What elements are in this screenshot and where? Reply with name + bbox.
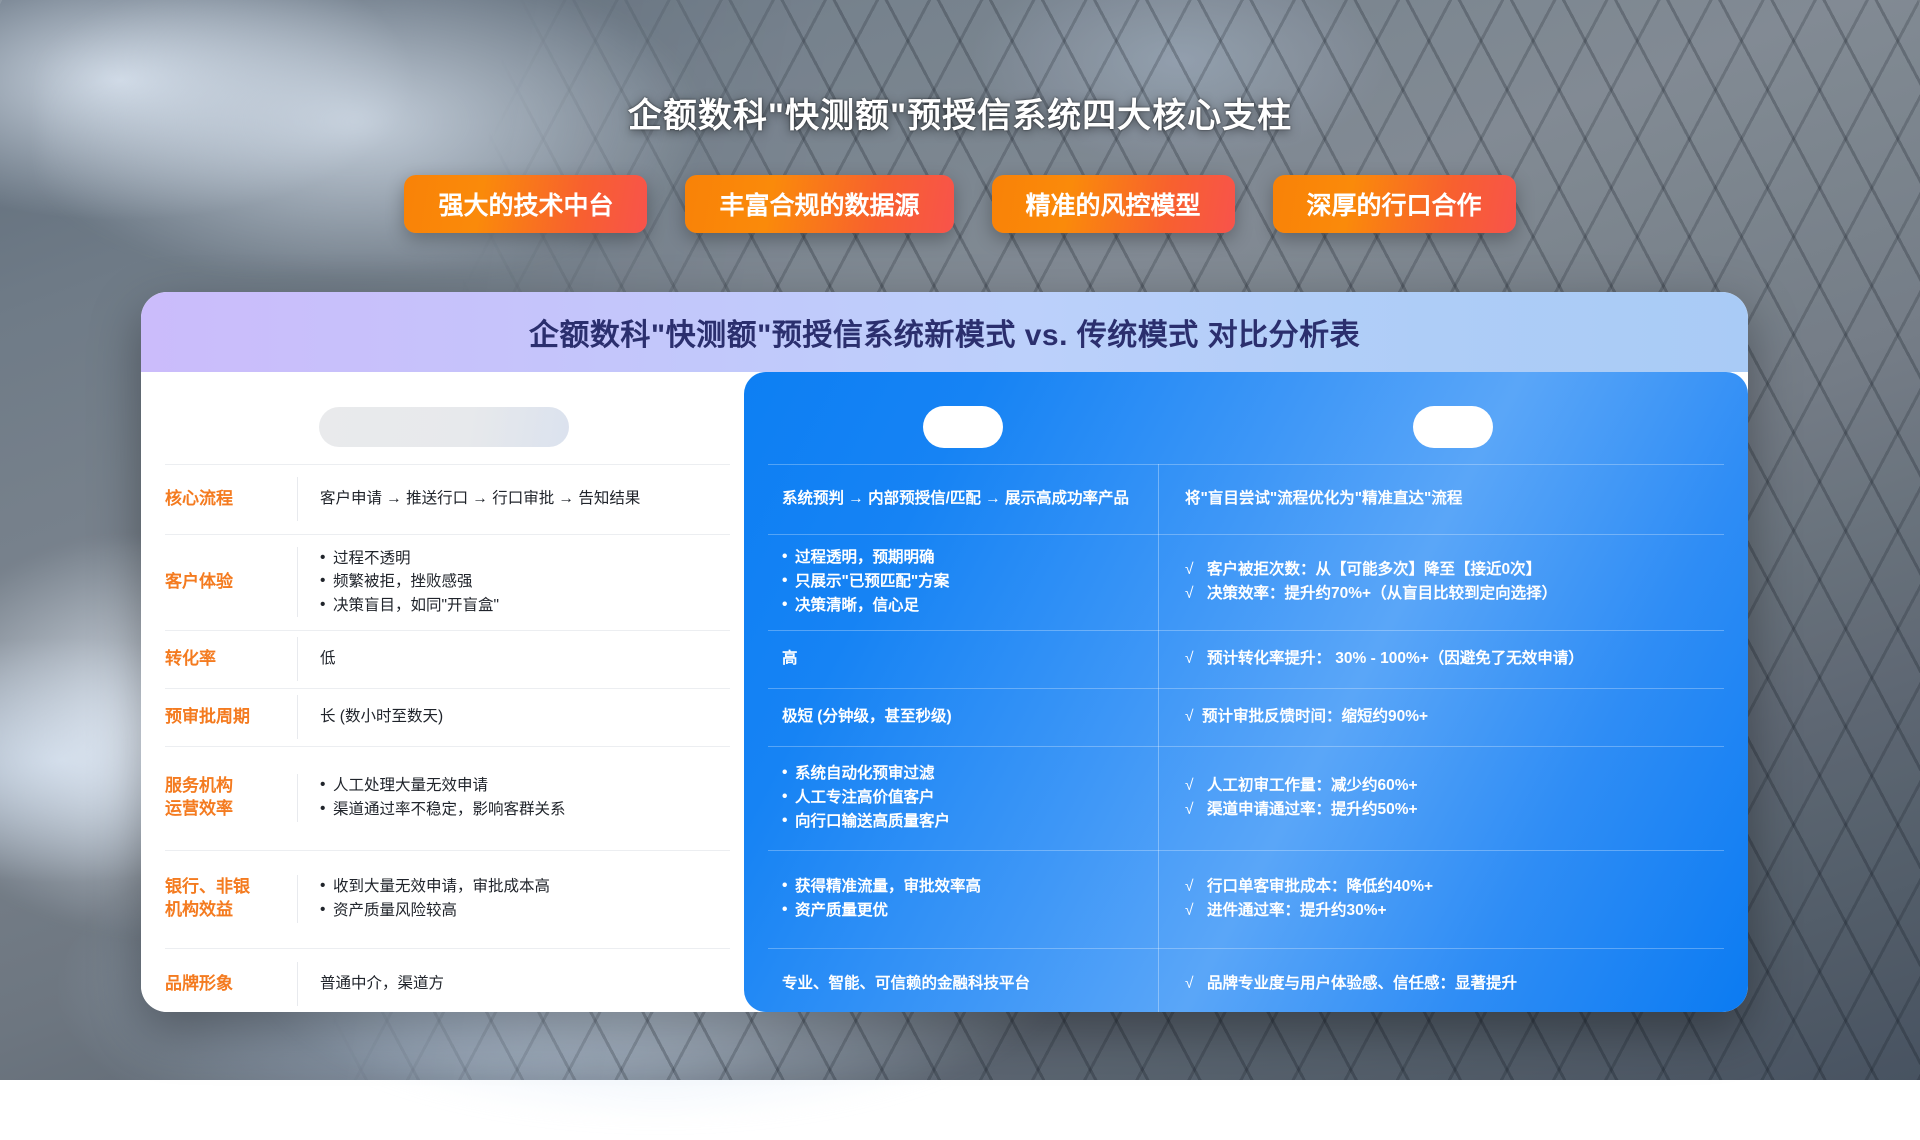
new-mode-line: 专业、智能、可信赖的金融科技平台 bbox=[782, 972, 1144, 996]
traditional-line: 低 bbox=[320, 647, 722, 671]
traditional-line: 渠道通过率不稳定，影响客群关系 bbox=[320, 798, 722, 822]
row-advantage-cell: 预计审批反馈时间：缩短约90%+ bbox=[1158, 688, 1732, 746]
row-advantage-cell: 品牌专业度与用户体验感、信任感：显著提升 bbox=[1158, 948, 1732, 1012]
row-advantage-cell: 将"盲目尝试"流程优化为"精准直达"流程 bbox=[1158, 464, 1732, 534]
pillar-pill-2[interactable]: 丰富合规的数据源 bbox=[685, 175, 953, 233]
advantage-line: 预计审批反馈时间：缩短约90%+ bbox=[1185, 705, 1722, 729]
row-new-mode-cell: 系统自动化预审过滤人工专注高价值客户向行口输送高质量客户 bbox=[760, 746, 1158, 850]
row-dimension-label: 银行、非银 机构效益 bbox=[165, 876, 297, 922]
advantage-line: 将"盲目尝试"流程优化为"精准直达"流程 bbox=[1185, 487, 1722, 511]
new-mode-line: 系统自动化预审过滤 bbox=[782, 762, 1144, 786]
row-advantage-cell: 人工初审工作量：减少约60%+渠道申请通过率：提升约50%+ bbox=[1158, 746, 1732, 850]
advantage-line: 客户被拒次数：从【可能多次】降至【接近0次】 bbox=[1185, 558, 1722, 582]
table-row: 系统预判 → 内部预授信/匹配 → 展示高成功率产品将"盲目尝试"流程优化为"精… bbox=[744, 464, 1748, 534]
row-dimension-label: 预审批周期 bbox=[165, 706, 297, 729]
new-mode-line: 极短 (分钟级，甚至秒级) bbox=[782, 705, 1144, 729]
row-dimension-label: 转化率 bbox=[165, 648, 297, 671]
comparison-card-body: 核心流程客户申请 → 推送行口 → 行口审批 → 告知结果客户体验过程不透明频繁… bbox=[141, 372, 1748, 1012]
row-new-mode-cell: 专业、智能、可信赖的金融科技平台 bbox=[760, 948, 1158, 1012]
row-advantage-cell: 客户被拒次数：从【可能多次】降至【接近0次】决策效率：提升约70%+（从盲目比较… bbox=[1158, 534, 1732, 630]
advantage-line: 渠道申请通过率：提升约50%+ bbox=[1185, 798, 1722, 822]
blue-header-row bbox=[744, 390, 1748, 464]
row-dimension-label: 客户体验 bbox=[165, 571, 297, 594]
table-row: 服务机构 运营效率人工处理大量无效申请渠道通过率不稳定，影响客群关系 bbox=[141, 746, 744, 850]
traditional-line: 客户申请 → 推送行口 → 行口审批 → 告知结果 bbox=[320, 487, 722, 511]
table-row: 高预计转化率提升： 30% - 100%+（因避免了无效申请） bbox=[744, 630, 1748, 688]
traditional-line: 长 (数小时至数天) bbox=[320, 705, 722, 729]
page-headline: 企额数科"快测额"预授信系统四大核心支柱 bbox=[0, 88, 1920, 137]
new-mode-line: 向行口输送高质量客户 bbox=[782, 810, 1144, 834]
new-mode-line: 过程透明，预期明确 bbox=[782, 546, 1144, 570]
row-new-mode-cell: 极短 (分钟级，甚至秒级) bbox=[760, 688, 1158, 746]
traditional-table: 核心流程客户申请 → 推送行口 → 行口审批 → 告知结果客户体验过程不透明频繁… bbox=[141, 372, 744, 1012]
traditional-line: 资产质量风险较高 bbox=[320, 899, 722, 923]
new-mode-line: 决策清晰，信心足 bbox=[782, 594, 1144, 618]
row-traditional-cell: 长 (数小时至数天) bbox=[297, 695, 722, 739]
advantage-line: 人工初审工作量：减少约60%+ bbox=[1185, 774, 1722, 798]
row-traditional-cell: 人工处理大量无效申请渠道通过率不稳定，影响客群关系 bbox=[297, 774, 722, 821]
advantage-line: 行口单客审批成本：降低约40%+ bbox=[1185, 875, 1722, 899]
table-row: 银行、非银 机构效益收到大量无效申请，审批成本高资产质量风险较高 bbox=[141, 850, 744, 948]
table-row: 过程透明，预期明确只展示"已预匹配"方案决策清晰，信心足客户被拒次数：从【可能多… bbox=[744, 534, 1748, 630]
row-dimension-label: 品牌形象 bbox=[165, 973, 297, 996]
new-mode-line: 只展示"已预匹配"方案 bbox=[782, 570, 1144, 594]
new-mode-line: 人工专注高价值客户 bbox=[782, 786, 1144, 810]
pillar-pill-4[interactable]: 深厚的行口合作 bbox=[1273, 175, 1516, 233]
new-mode-line: 获得精准流量，审批效率高 bbox=[782, 875, 1144, 899]
row-new-mode-cell: 过程透明，预期明确只展示"已预匹配"方案决策清晰，信心足 bbox=[760, 534, 1158, 630]
row-advantage-cell: 预计转化率提升： 30% - 100%+（因避免了无效申请） bbox=[1158, 630, 1732, 688]
comparison-card-header: 企额数科"快测额"预授信系统新模式 vs. 传统模式 对比分析表 bbox=[141, 292, 1748, 372]
traditional-line: 普通中介，渠道方 bbox=[320, 972, 722, 996]
advantage-line: 决策效率：提升约70%+（从盲目比较到定向选择） bbox=[1185, 582, 1722, 606]
comparison-card: 企额数科"快测额"预授信系统新模式 vs. 传统模式 对比分析表 核心流程客户申… bbox=[141, 292, 1748, 1012]
table-row: 转化率低 bbox=[141, 630, 744, 688]
column-header-traditional bbox=[319, 407, 569, 447]
pillar-pill-row: 强大的技术中台丰富合规的数据源精准的风控模型深厚的行口合作 bbox=[0, 175, 1920, 233]
table-row: 品牌形象普通中介，渠道方 bbox=[141, 948, 744, 1012]
row-new-mode-cell: 高 bbox=[760, 630, 1158, 688]
table-header-row bbox=[141, 390, 744, 464]
traditional-line: 决策盲目，如同"开盲盒" bbox=[320, 594, 722, 618]
traditional-line: 人工处理大量无效申请 bbox=[320, 774, 722, 798]
new-mode-line: 资产质量更优 bbox=[782, 899, 1144, 923]
row-new-mode-cell: 获得精准流量，审批效率高资产质量更优 bbox=[760, 850, 1158, 948]
pillar-pill-3[interactable]: 精准的风控模型 bbox=[992, 175, 1235, 233]
row-new-mode-cell: 系统预判 → 内部预授信/匹配 → 展示高成功率产品 bbox=[760, 464, 1158, 534]
table-row: 获得精准流量，审批效率高资产质量更优行口单客审批成本：降低约40%+进件通过率：… bbox=[744, 850, 1748, 948]
column-header-new-mode bbox=[923, 406, 1003, 448]
row-dimension-label: 服务机构 运营效率 bbox=[165, 775, 297, 821]
row-traditional-cell: 低 bbox=[297, 637, 722, 681]
table-row: 系统自动化预审过滤人工专注高价值客户向行口输送高质量客户人工初审工作量：减少约6… bbox=[744, 746, 1748, 850]
row-dimension-label: 核心流程 bbox=[165, 488, 297, 511]
row-traditional-cell: 收到大量无效申请，审批成本高资产质量风险较高 bbox=[297, 875, 722, 922]
row-traditional-cell: 普通中介，渠道方 bbox=[297, 962, 722, 1006]
new-mode-line: 系统预判 → 内部预授信/匹配 → 展示高成功率产品 bbox=[782, 487, 1144, 511]
table-row: 专业、智能、可信赖的金融科技平台品牌专业度与用户体验感、信任感：显著提升 bbox=[744, 948, 1748, 1012]
table-row: 客户体验过程不透明频繁被拒，挫败感强决策盲目，如同"开盲盒" bbox=[141, 534, 744, 630]
column-header-advantage bbox=[1413, 406, 1493, 448]
row-advantage-cell: 行口单客审批成本：降低约40%+进件通过率：提升约30%+ bbox=[1158, 850, 1732, 948]
traditional-line: 收到大量无效申请，审批成本高 bbox=[320, 875, 722, 899]
advantage-line: 品牌专业度与用户体验感、信任感：显著提升 bbox=[1185, 972, 1722, 996]
table-row: 预审批周期长 (数小时至数天) bbox=[141, 688, 744, 746]
pillar-pill-1[interactable]: 强大的技术中台 bbox=[404, 175, 647, 233]
advantage-line: 预计转化率提升： 30% - 100%+（因避免了无效申请） bbox=[1185, 647, 1722, 671]
row-traditional-cell: 客户申请 → 推送行口 → 行口审批 → 告知结果 bbox=[297, 477, 722, 521]
traditional-line: 频繁被拒，挫败感强 bbox=[320, 570, 722, 594]
new-mode-panel: 系统预判 → 内部预授信/匹配 → 展示高成功率产品将"盲目尝试"流程优化为"精… bbox=[744, 372, 1748, 1012]
table-row: 极短 (分钟级，甚至秒级)预计审批反馈时间：缩短约90%+ bbox=[744, 688, 1748, 746]
row-traditional-cell: 过程不透明频繁被拒，挫败感强决策盲目，如同"开盲盒" bbox=[297, 547, 722, 618]
traditional-line: 过程不透明 bbox=[320, 547, 722, 571]
advantage-line: 进件通过率：提升约30%+ bbox=[1185, 899, 1722, 923]
new-mode-line: 高 bbox=[782, 647, 1144, 671]
table-row: 核心流程客户申请 → 推送行口 → 行口审批 → 告知结果 bbox=[141, 464, 744, 534]
comparison-card-title: 企额数科"快测额"预授信系统新模式 vs. 传统模式 对比分析表 bbox=[529, 310, 1360, 354]
